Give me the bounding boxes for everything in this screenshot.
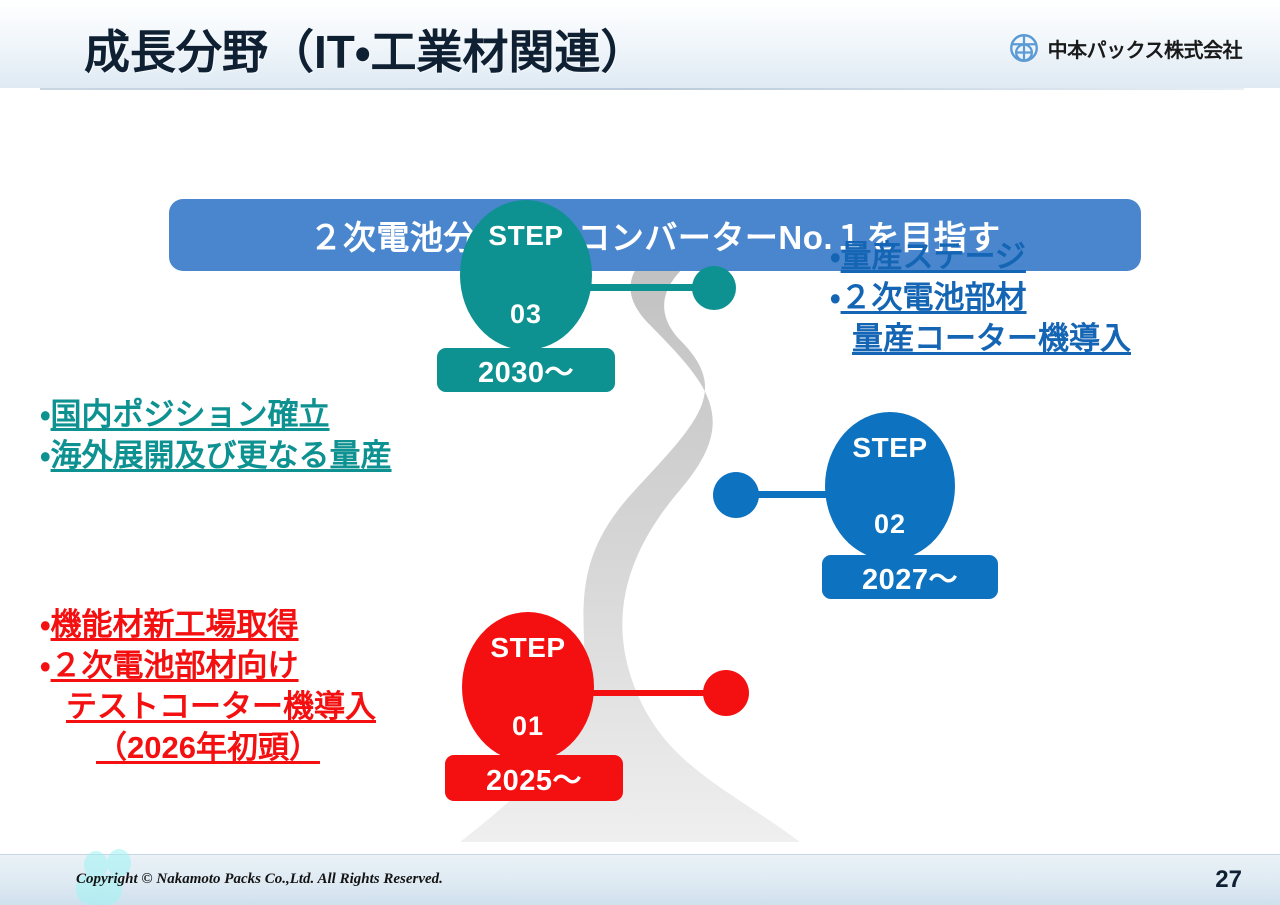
step-01-connector-dot <box>703 670 749 716</box>
bullet-text: 量産ステージ <box>841 239 1026 274</box>
bullet-marker: ・ <box>40 648 51 683</box>
slide-header: 成長分野（IT・工業材関連） 中本パックス株式会社 <box>0 0 1280 88</box>
bullet-marker: ・ <box>830 280 841 315</box>
bullet-text: 海外展開及び更なる量産 <box>51 438 392 473</box>
step-03-connector-dot <box>692 266 736 310</box>
slide-body: ２次電池分野でのコンバーターNo.１を目指す STEP 03 2030〜 ・量産… <box>40 90 1244 842</box>
step-01-word: STEP <box>490 632 565 664</box>
step-03-word: STEP <box>488 220 563 252</box>
bullet-marker: ・ <box>40 438 51 473</box>
step-01-note-line-2: ・２次電池部材向け <box>40 646 376 687</box>
bullet-text: ２次電池部材向け <box>51 648 299 683</box>
bullet-text: テストコーター機導入 <box>66 689 376 724</box>
bullet-text: 機能材新工場取得 <box>51 607 299 642</box>
footer-spacer <box>0 842 1280 854</box>
bullet-text: （2026年初頭） <box>96 730 320 765</box>
step-01-circle[interactable]: STEP 01 <box>462 612 594 762</box>
company-logo: 中本パックス株式会社 <box>1009 33 1242 63</box>
bullet-marker: ・ <box>830 239 841 274</box>
bullet-marker: ・ <box>40 607 51 642</box>
step-03-number: 03 <box>510 299 542 330</box>
slide-footer: Copyright © Nakamoto Packs Co.,Ltd. All … <box>0 854 1280 905</box>
step-03-note-line-1: ・量産ステージ <box>830 237 1131 278</box>
step-03-note-line-3: 量産コーター機導入 <box>830 319 1131 360</box>
step-02-number: 02 <box>874 509 906 540</box>
step-02-notes: ・国内ポジション確立 ・海外展開及び更なる量産 <box>40 395 392 477</box>
step-02-year-chip: 2027〜 <box>822 555 998 599</box>
step-01-note-line-1: ・機能材新工場取得 <box>40 605 376 646</box>
step-01-note-line-3: テストコーター機導入 <box>40 687 376 728</box>
step-03-note-line-2: ・２次電池部材 <box>830 278 1131 319</box>
step-03-notes: ・量産ステージ ・２次電池部材 量産コーター機導入 <box>830 237 1131 360</box>
step-03-year-chip: 2030〜 <box>437 348 615 392</box>
step-02-year: 2027〜 <box>862 556 958 598</box>
slide-root: 成長分野（IT・工業材関連） 中本パックス株式会社 <box>0 0 1280 905</box>
page-number: 27 <box>1215 866 1242 894</box>
page-title: 成長分野（IT・工業材関連） <box>84 16 647 82</box>
step-02-connector-dot <box>713 472 759 518</box>
step-02-note-line-1: ・国内ポジション確立 <box>40 395 392 436</box>
step-01-number: 01 <box>512 711 544 742</box>
bullet-text: ２次電池部材 <box>841 280 1027 315</box>
step-02-word: STEP <box>852 432 927 464</box>
bullet-marker: ・ <box>40 397 51 432</box>
step-01-year: 2025〜 <box>486 757 582 799</box>
step-01-year-chip: 2025〜 <box>445 755 623 801</box>
step-02-note-line-2: ・海外展開及び更なる量産 <box>40 436 392 477</box>
company-name: 中本パックス株式会社 <box>1048 34 1242 63</box>
bullet-text: 量産コーター機導入 <box>852 321 1131 356</box>
step-03-year: 2030〜 <box>478 349 574 391</box>
copyright-text: Copyright © Nakamoto Packs Co.,Ltd. All … <box>76 871 443 888</box>
step-01-notes: ・機能材新工場取得 ・２次電池部材向け テストコーター機導入 （2026年初頭） <box>40 605 376 769</box>
step-03-circle[interactable]: STEP 03 <box>460 200 592 350</box>
nakamoto-emblem-icon <box>1009 33 1039 63</box>
bullet-text: 国内ポジション確立 <box>51 397 330 432</box>
step-02-circle[interactable]: STEP 02 <box>825 412 955 560</box>
step-01-note-line-4: （2026年初頭） <box>40 728 376 769</box>
